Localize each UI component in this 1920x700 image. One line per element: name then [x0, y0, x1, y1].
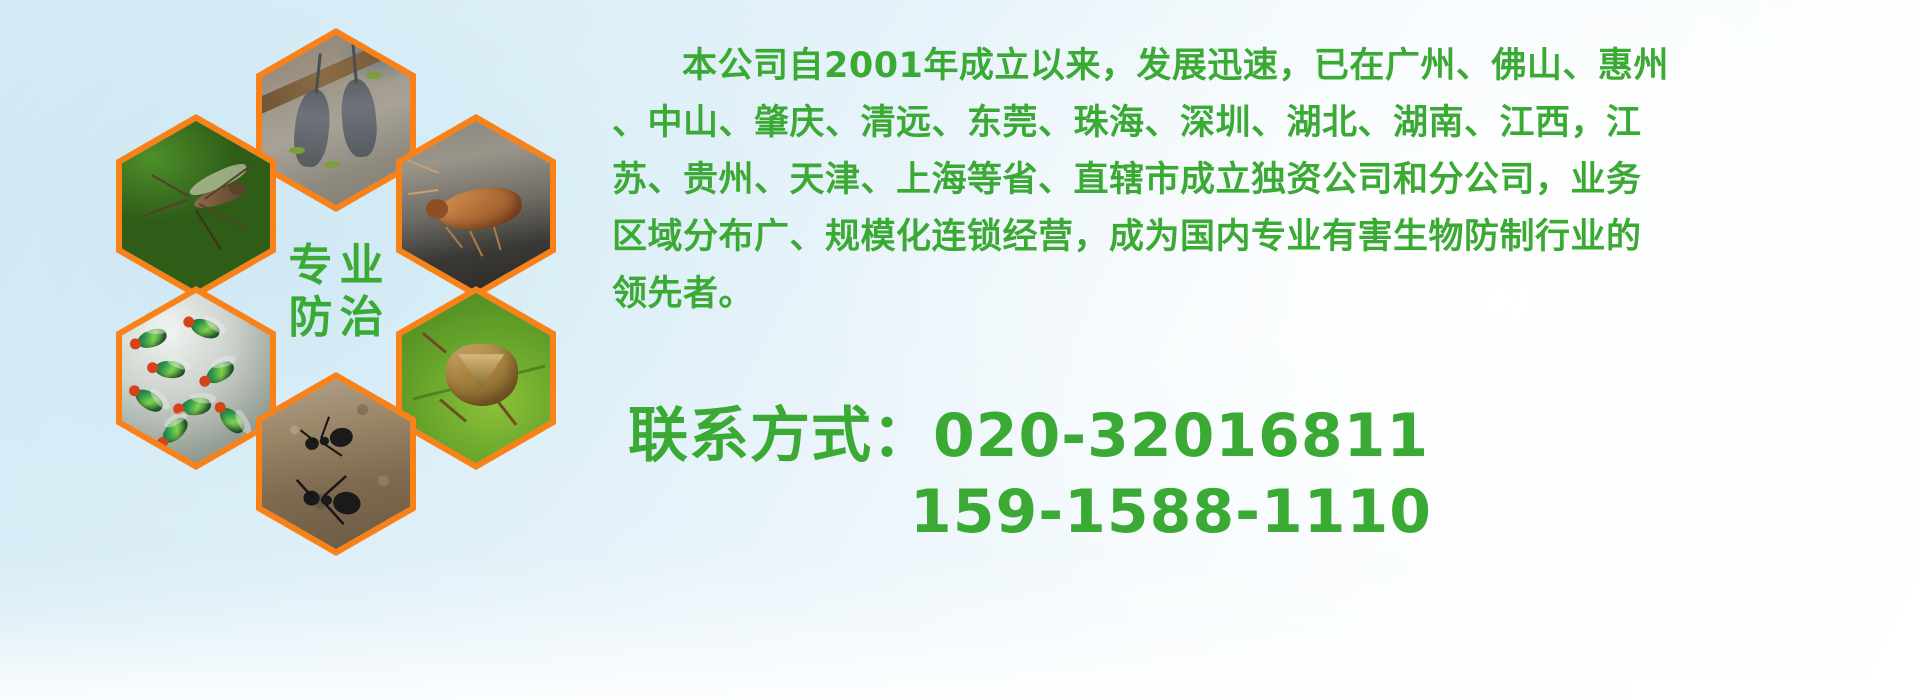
fly-shape: [154, 359, 186, 379]
description-line-5: 领先者。: [612, 266, 1912, 323]
honeycomb-cluster: 专业 防治: [88, 6, 588, 566]
cockroach-head-shape: [426, 199, 448, 219]
stinkbug-leg-shape: [493, 396, 518, 426]
stinkbug-leg-shape: [422, 332, 447, 354]
hex-inner-ants: [262, 379, 410, 549]
rat-shape: [339, 78, 380, 159]
fly-shape: [159, 414, 192, 447]
mosquito-leg-shape: [140, 199, 188, 218]
mosquito-photo: [122, 121, 270, 291]
mosquito-proboscis-shape: [195, 210, 221, 250]
hex-cell-rats[interactable]: [256, 28, 416, 212]
cockroach-leg-shape: [493, 227, 502, 251]
leaf-shape: [324, 161, 340, 168]
leaf-shape: [289, 147, 305, 154]
hex-cell-ants[interactable]: [256, 372, 416, 556]
cockroach-antenna-shape: [407, 159, 439, 174]
mosquito-head-shape: [229, 182, 244, 195]
stinkbug-leg-shape: [440, 399, 468, 423]
rats-photo: [262, 35, 410, 205]
cockroach-photo: [402, 121, 550, 291]
stinkbug-photo: [402, 293, 550, 463]
hex-inner-stinkbug: [402, 293, 550, 463]
center-label-line1: 专业: [282, 243, 391, 289]
pest-control-banner: 专业 防治 本公司自2001年成立以来，发展迅速，已在广州、佛山、惠州 、中山、…: [0, 0, 1920, 700]
hex-cell-flies[interactable]: [116, 286, 276, 470]
rat-shape: [291, 88, 333, 169]
ants-photo: [262, 379, 410, 549]
flies-photo: [122, 293, 270, 463]
hex-inner-mosquito: [122, 121, 270, 291]
hex-inner-flies: [122, 293, 270, 463]
center-label-line2: 防治: [282, 295, 391, 341]
cockroach-body-shape: [435, 183, 524, 234]
cockroach-antenna-shape: [408, 189, 438, 195]
cockroach-leg-shape: [446, 227, 464, 249]
leaf-shape: [366, 72, 382, 79]
contact-phone-landline[interactable]: 联系方式：020-32016811: [628, 398, 1432, 474]
hex-cell-cockroach[interactable]: [396, 114, 556, 298]
fly-shape: [132, 385, 166, 416]
hex-inner-cockroach: [402, 121, 550, 291]
description-line-3: 苏、贵州、天津、上海等省、直辖市成立独资公司和分公司，业务: [612, 152, 1912, 209]
contact-phone-mobile[interactable]: 159-1588-1110: [628, 474, 1432, 550]
description-line-2: 、中山、肇庆、清远、东莞、珠海、深圳、湖北、湖南、江西，江: [612, 95, 1912, 152]
hex-inner-rats: [262, 35, 410, 205]
fly-shape: [188, 315, 222, 342]
hex-cell-mosquito[interactable]: [116, 114, 276, 298]
description-line-1: 本公司自2001年成立以来，发展迅速，已在广州、佛山、惠州: [612, 38, 1912, 95]
cockroach-leg-shape: [469, 230, 483, 256]
plank-shape: [262, 35, 410, 117]
contact-block: 联系方式：020-32016811 159-1588-1110: [628, 398, 1432, 550]
mosquito-leg-shape: [151, 174, 190, 198]
hex-cell-center-label: 专业 防治: [256, 200, 416, 384]
hex-cell-stinkbug[interactable]: [396, 286, 556, 470]
soil-texture: [262, 379, 410, 549]
fly-shape: [203, 358, 237, 388]
description-line-4: 区域分布广、规模化连锁经营，成为国内专业有害生物防制行业的: [612, 209, 1912, 266]
fly-shape: [215, 404, 248, 438]
hex-inner-center-label: 专业 防治: [262, 207, 410, 377]
fly-shape: [135, 326, 169, 351]
company-description: 本公司自2001年成立以来，发展迅速，已在广州、佛山、惠州 、中山、肇庆、清远、…: [612, 38, 1912, 323]
